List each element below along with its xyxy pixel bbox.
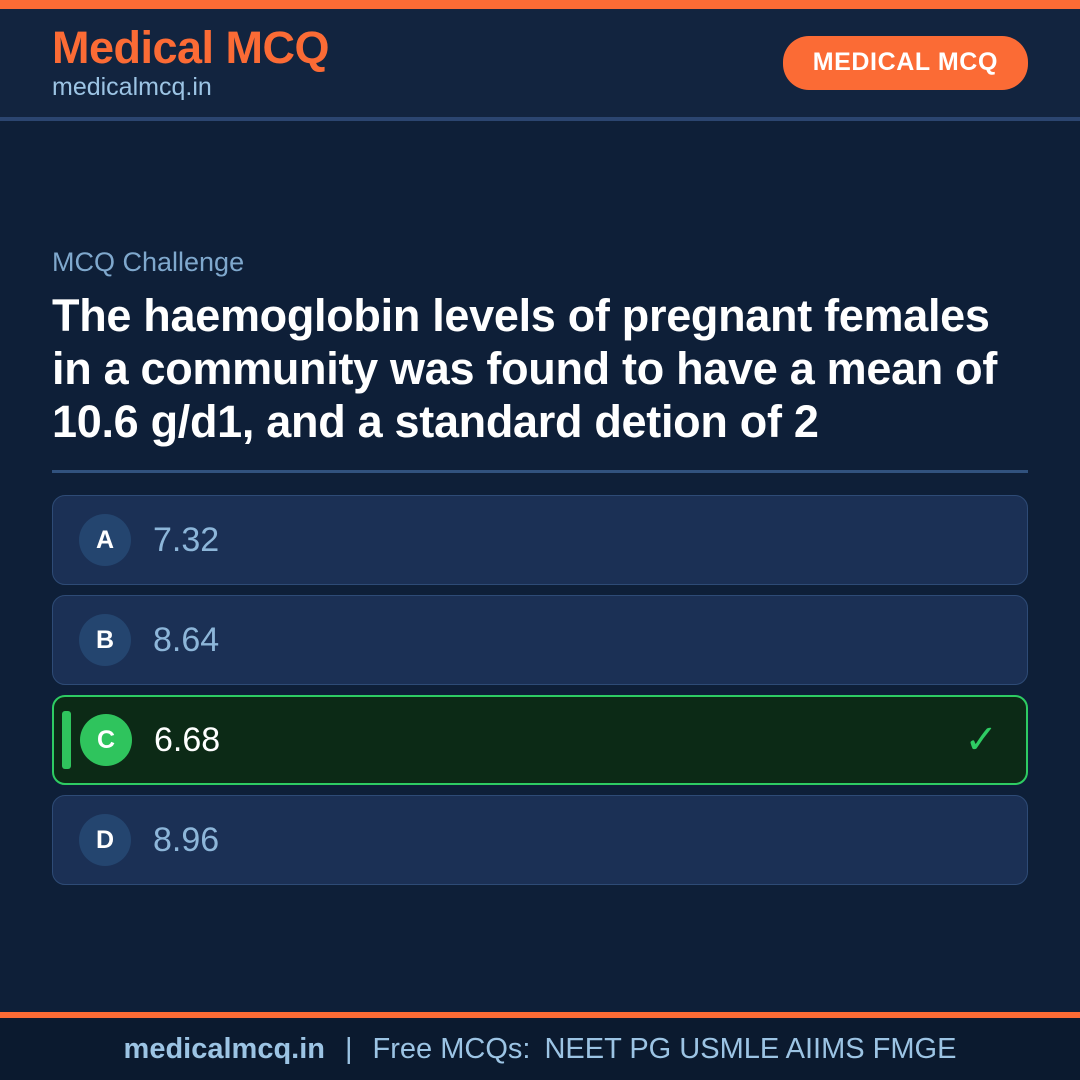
page-footer: medicalmcq.in | Free MCQs: NEET PG USMLE… [0, 1018, 1080, 1080]
option-row-c[interactable]: C 6.68 ✓ [52, 695, 1028, 785]
option-text-b: 8.64 [153, 623, 219, 657]
check-icon-c: ✓ [964, 720, 998, 760]
footer-separator: | [339, 1033, 359, 1066]
eyebrow-label: MCQ Challenge [52, 246, 1028, 278]
footer-inner: medicalmcq.in | Free MCQs: NEET PG USMLE… [124, 1033, 957, 1066]
brand-block: Medical MCQ medicalmcq.in [52, 25, 329, 101]
top-accent-bar [0, 0, 1080, 9]
header-badge[interactable]: MEDICAL MCQ [783, 36, 1028, 90]
question-text: The haemoglobin levels of pregnant femal… [52, 290, 1028, 448]
page-header: Medical MCQ medicalmcq.in MEDICAL MCQ [0, 9, 1080, 121]
option-badge-c: C [80, 714, 132, 766]
option-badge-d: D [79, 814, 131, 866]
footer-exam-tags: NEET PG USMLE AIIMS FMGE [544, 1033, 956, 1066]
main-content: MCQ Challenge The haemoglobin levels of … [0, 121, 1080, 1012]
footer-label: Free MCQs: [373, 1033, 531, 1066]
option-badge-a: A [79, 514, 131, 566]
option-row-b[interactable]: B 8.64 [52, 595, 1028, 685]
option-badge-b: B [79, 614, 131, 666]
brand-title: Medical MCQ [52, 25, 329, 72]
option-text-d: 8.96 [153, 823, 219, 857]
mcq-card-page: Medical MCQ medicalmcq.in MEDICAL MCQ MC… [0, 0, 1080, 1080]
option-text-c: 6.68 [154, 723, 220, 757]
footer-site[interactable]: medicalmcq.in [124, 1033, 325, 1066]
brand-subtitle: medicalmcq.in [52, 74, 329, 102]
option-row-d[interactable]: D 8.96 [52, 795, 1028, 885]
option-text-a: 7.32 [153, 523, 219, 557]
question-divider [52, 470, 1028, 473]
options-list: A 7.32 B 8.64 C 6.68 ✓ D 8.96 [52, 495, 1028, 885]
option-row-a[interactable]: A 7.32 [52, 495, 1028, 585]
